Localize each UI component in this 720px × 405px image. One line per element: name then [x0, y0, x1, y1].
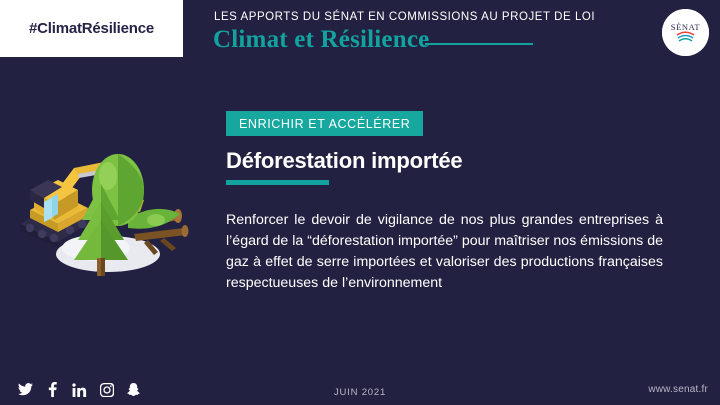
heading-underline: [226, 180, 329, 185]
badge-label: ENRICHIR ET ACCÉLÉRER: [239, 117, 410, 131]
header-title: Climat et Résilience: [213, 26, 429, 54]
senat-logo: SÉNAT: [662, 9, 709, 56]
footer-date: JUIN 2021: [0, 387, 720, 398]
status-badge: ENRICHIR ET ACCÉLÉRER: [226, 111, 423, 136]
header-rule: [425, 43, 533, 45]
excavator-deforestation-illustration: [8, 128, 208, 288]
header-kicker: LES APPORTS DU SÉNAT EN COMMISSIONS AU P…: [214, 11, 595, 23]
slide-root: #ClimatRésilience LES APPORTS DU SÉNAT E…: [0, 0, 720, 405]
body-paragraph: Renforcer le devoir de vigilance de nos …: [226, 210, 663, 294]
svg-text:SÉNAT: SÉNAT: [671, 22, 701, 32]
footer-url[interactable]: www.senat.fr: [648, 384, 708, 395]
hashtag-label: #ClimatRésilience: [29, 20, 154, 37]
hashtag-badge: #ClimatRésilience: [0, 0, 183, 57]
page-title: Déforestation importée: [226, 148, 462, 174]
